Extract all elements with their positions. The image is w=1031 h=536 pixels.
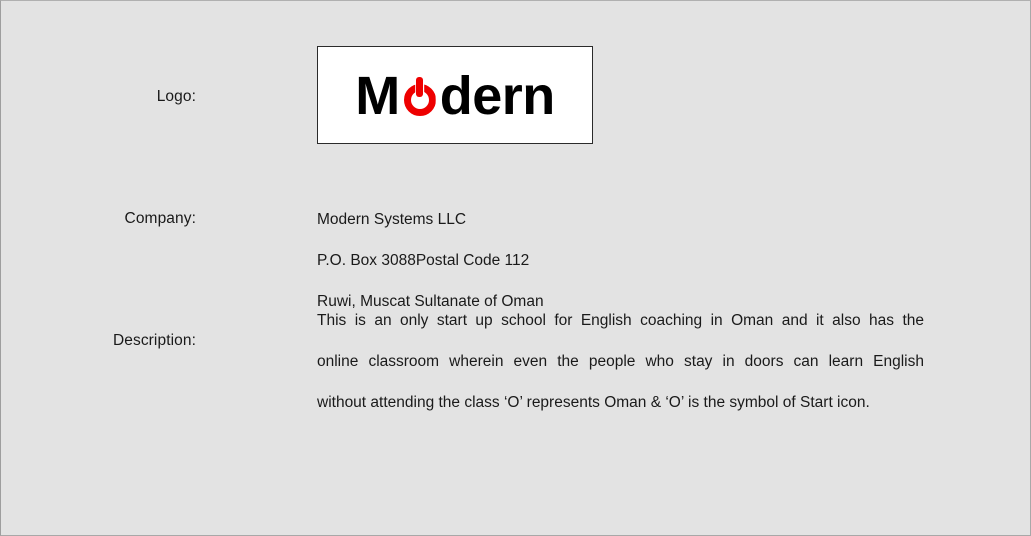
logo-text-after: dern [440, 69, 555, 123]
description-line: without attending the class ‘O’ represen… [317, 393, 924, 414]
logo-row: Logo: M dern [1, 46, 593, 144]
logo-content: M dern [317, 46, 593, 144]
description-text-block: This is an only start up school for Engl… [317, 311, 924, 414]
company-line: P.O. Box 3088Postal Code 112 [317, 251, 544, 272]
power-icon [401, 77, 439, 115]
description-row: Description: This is an only start up sc… [1, 311, 924, 414]
description-content: This is an only start up school for Engl… [317, 311, 924, 414]
description-line: online classroom wherein even the people… [317, 352, 924, 393]
logo-text-before: M [355, 69, 399, 123]
description-label: Description: [1, 311, 196, 351]
logo-wordmark: M dern [355, 69, 555, 123]
info-panel: Logo: M dern Company: Modern Systems LLC… [0, 0, 1031, 536]
company-line: Ruwi, Muscat Sultanate of Oman [317, 292, 544, 313]
logo-label: Logo: [1, 46, 196, 107]
power-icon-stem [416, 77, 423, 97]
company-label: Company: [1, 189, 196, 229]
company-line: Modern Systems LLC [317, 210, 544, 231]
logo-image-box: M dern [317, 46, 593, 144]
description-line: This is an only start up school for Engl… [317, 311, 924, 352]
